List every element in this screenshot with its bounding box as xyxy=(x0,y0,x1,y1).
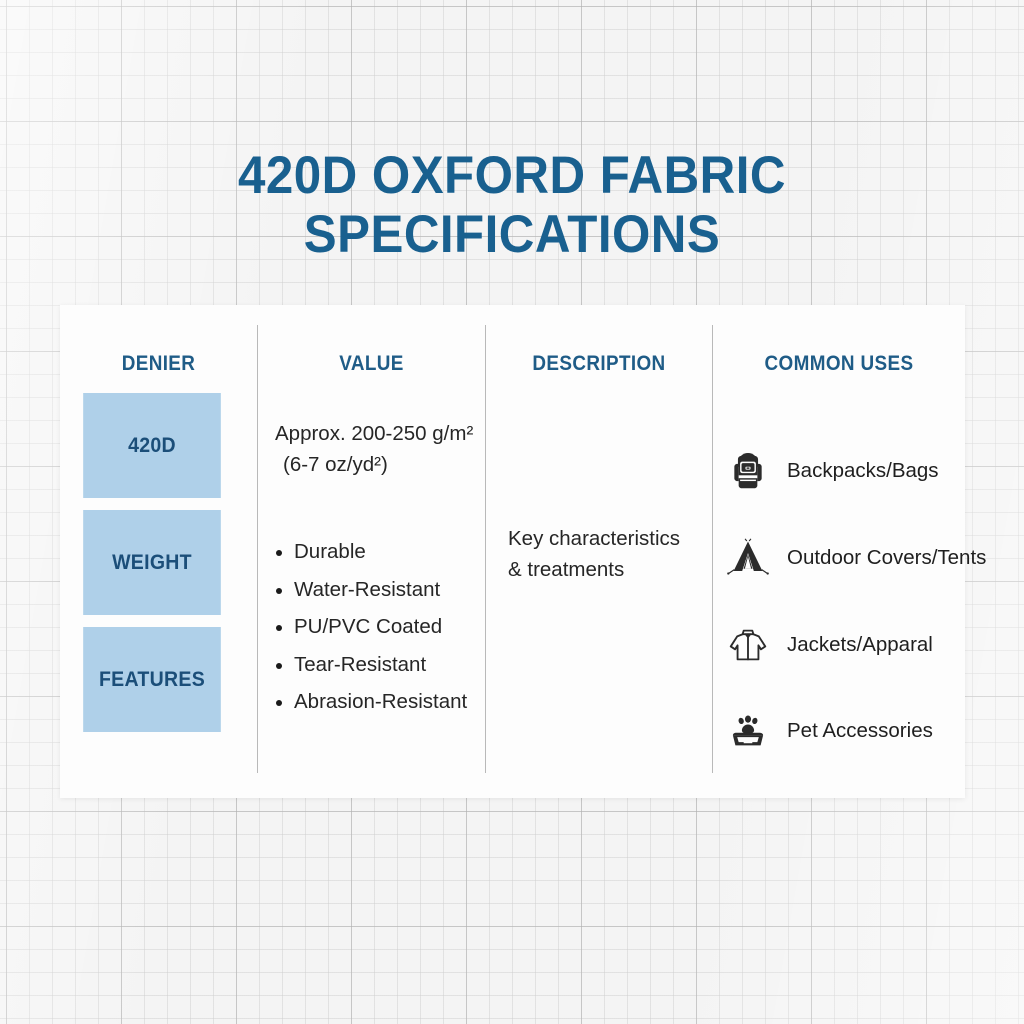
denier-chip-features[interactable]: FEATURES xyxy=(83,627,221,732)
backpack-icon xyxy=(723,446,773,496)
description-text: Key characteristics & treatments xyxy=(508,523,708,585)
features-list: Durable Water-Resistant PU/PVC Coated Te… xyxy=(270,533,490,721)
column-description: DESCRIPTION Key characteristics & treatm… xyxy=(486,305,712,798)
list-item: Durable xyxy=(270,533,490,571)
weight-value-line-1: Approx. 200-250 g/m² xyxy=(275,418,490,449)
list-item: PU/PVC Coated xyxy=(270,608,490,646)
use-label-pet-accessories: Pet Accessories xyxy=(787,719,933,743)
column-header-value: VALUE xyxy=(269,352,473,376)
list-item: Water-Resistant xyxy=(270,571,490,609)
tent-icon xyxy=(723,533,773,583)
column-denier: DENIER 420D WEIGHT FEATURES xyxy=(60,305,257,798)
column-header-denier: DENIER xyxy=(70,352,247,376)
denier-chip-420d[interactable]: 420D xyxy=(83,393,221,498)
list-item: Jackets/Apparal xyxy=(723,620,933,670)
use-label-jackets: Jackets/Apparal xyxy=(787,633,933,657)
column-common-uses: COMMON USES xyxy=(713,305,965,798)
weight-value-text: Approx. 200-250 g/m² (6-7 oz/yd²) xyxy=(275,418,490,480)
use-label-backpacks: Backpacks/Bags xyxy=(787,459,939,483)
column-header-description: DESCRIPTION xyxy=(497,352,700,376)
specifications-card: DENIER 420D WEIGHT FEATURES VALUE Approx… xyxy=(60,305,965,798)
jacket-icon xyxy=(723,620,773,670)
use-label-outdoor-covers: Outdoor Covers/Tents xyxy=(787,546,986,570)
list-item: Abrasion-Resistant xyxy=(270,683,490,721)
paw-pet-bed-icon xyxy=(723,706,773,756)
list-item: Pet Accessories xyxy=(723,706,933,756)
column-value: VALUE Approx. 200-250 g/m² (6-7 oz/yd²) … xyxy=(258,305,485,798)
list-item: Backpacks/Bags xyxy=(723,446,939,496)
page-title: 420D OXFORD FABRIC SPECIFICATIONS xyxy=(36,146,988,264)
denier-chip-weight[interactable]: WEIGHT xyxy=(83,510,221,615)
weight-value-line-2: (6-7 oz/yd²) xyxy=(275,449,490,480)
list-item: Tear-Resistant xyxy=(270,646,490,684)
list-item: Outdoor Covers/Tents xyxy=(723,533,986,583)
column-header-common-uses: COMMON USES xyxy=(726,352,953,376)
